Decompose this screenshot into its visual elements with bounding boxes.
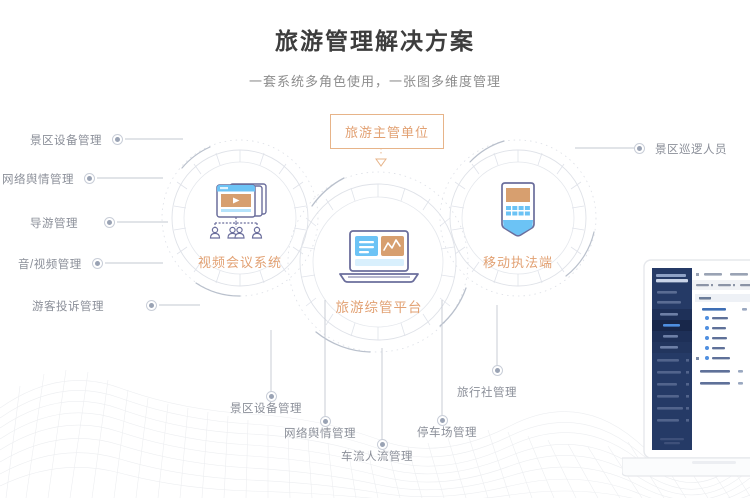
laptop-dashboard-mockup: [622, 258, 750, 498]
dot-bottom-2[interactable]: [320, 416, 331, 427]
page-subtitle: 一套系统多角色使用，一张图多维度管理: [0, 71, 750, 90]
mobile-device-icon: [492, 180, 544, 240]
node-platform[interactable]: 旅游综管平台: [334, 228, 424, 316]
label-bottom-1[interactable]: 景区设备管理: [230, 400, 302, 416]
node-video-conference[interactable]: 视频会议系统: [196, 180, 284, 271]
label-bottom-4[interactable]: 停车场管理: [417, 424, 477, 440]
label-left-4[interactable]: 音/视频管理: [18, 256, 82, 272]
authority-stem: [376, 148, 386, 166]
label-left-5[interactable]: 游客投诉管理: [32, 298, 104, 314]
dot-left-3[interactable]: [104, 217, 115, 228]
dot-bottom-4[interactable]: [437, 415, 448, 426]
dot-left-2[interactable]: [84, 173, 95, 184]
label-left-3[interactable]: 导游管理: [30, 215, 78, 231]
video-conference-icon: [204, 180, 276, 240]
node-mobile-enforcement[interactable]: 移动执法端: [478, 180, 558, 271]
dot-bottom-3[interactable]: [377, 439, 388, 450]
dot-bottom-5[interactable]: [492, 365, 503, 376]
laptop-dashboard-icon: [334, 228, 424, 284]
dot-left-1[interactable]: [112, 134, 123, 145]
node-label-video-conference: 视频会议系统: [196, 252, 284, 271]
label-bottom-5[interactable]: 旅行社管理: [457, 384, 517, 400]
authority-badge[interactable]: 旅游主管单位: [330, 114, 444, 149]
label-bottom-3[interactable]: 车流人流管理: [341, 448, 413, 464]
label-right-1[interactable]: 景区巡逻人员: [655, 141, 727, 157]
dot-left-5[interactable]: [146, 300, 157, 311]
node-label-platform: 旅游综管平台: [334, 296, 424, 316]
header: 旅游管理解决方案 一套系统多角色使用，一张图多维度管理: [0, 22, 750, 90]
page-title: 旅游管理解决方案: [0, 22, 750, 56]
infographic-stage: 旅游管理解决方案 一套系统多角色使用，一张图多维度管理: [0, 0, 750, 498]
label-bottom-2[interactable]: 网络舆情管理: [284, 425, 356, 441]
node-label-mobile-enforcement: 移动执法端: [478, 252, 558, 271]
dot-bottom-1[interactable]: [266, 391, 277, 402]
dot-right-1[interactable]: [634, 143, 645, 154]
dot-left-4[interactable]: [92, 258, 103, 269]
label-left-1[interactable]: 景区设备管理: [30, 132, 102, 148]
label-left-2[interactable]: 网络舆情管理: [2, 171, 74, 187]
